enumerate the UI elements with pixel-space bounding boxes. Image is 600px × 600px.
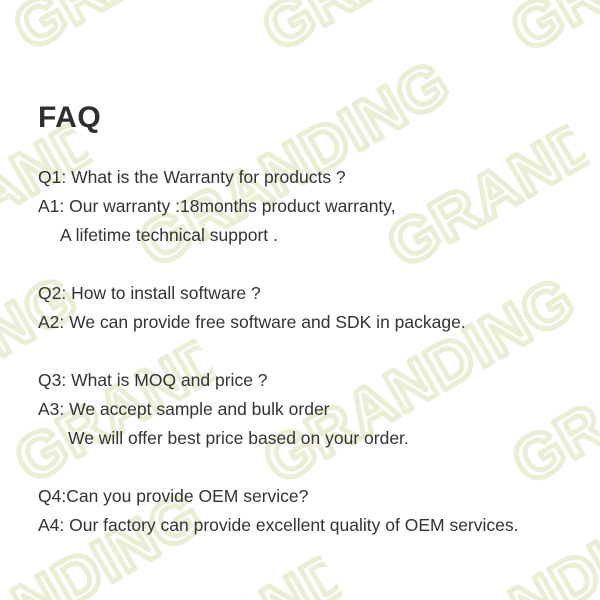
faq-answer-line: A lifetime technical support . [38, 221, 586, 250]
faq-block: Q4:Can you provide OEM service?A4: Our f… [38, 482, 586, 540]
faq-answer-line: A1: Our warranty :18months product warra… [38, 192, 586, 221]
faq-question-line: Q4:Can you provide OEM service? [38, 482, 586, 511]
faq-block: Q3: What is MOQ and price ?A3: We accept… [38, 366, 586, 453]
faq-list: Q1: What is the Warranty for products ?A… [38, 163, 586, 540]
faq-question-line: Q1: What is the Warranty for products ? [38, 163, 586, 192]
faq-block: Q2: How to install software ?A2: We can … [38, 279, 586, 337]
faq-answer-line: A3: We accept sample and bulk order [38, 395, 586, 424]
faq-answer-line: We will offer best price based on your o… [38, 424, 586, 453]
faq-question-line: Q3: What is MOQ and price ? [38, 366, 586, 395]
faq-block: Q1: What is the Warranty for products ?A… [38, 163, 586, 250]
faq-answer-line: A4: Our factory can provide excellent qu… [38, 511, 586, 540]
page-title: FAQ [38, 100, 101, 136]
faq-answer-line: A2: We can provide free software and SDK… [38, 308, 586, 337]
faq-content: FAQ Q1: What is the Warranty for product… [0, 0, 600, 600]
faq-page: GRANDING GRANDING FAQ Q1: What is the Wa… [0, 0, 600, 600]
faq-question-line: Q2: How to install software ? [38, 279, 586, 308]
